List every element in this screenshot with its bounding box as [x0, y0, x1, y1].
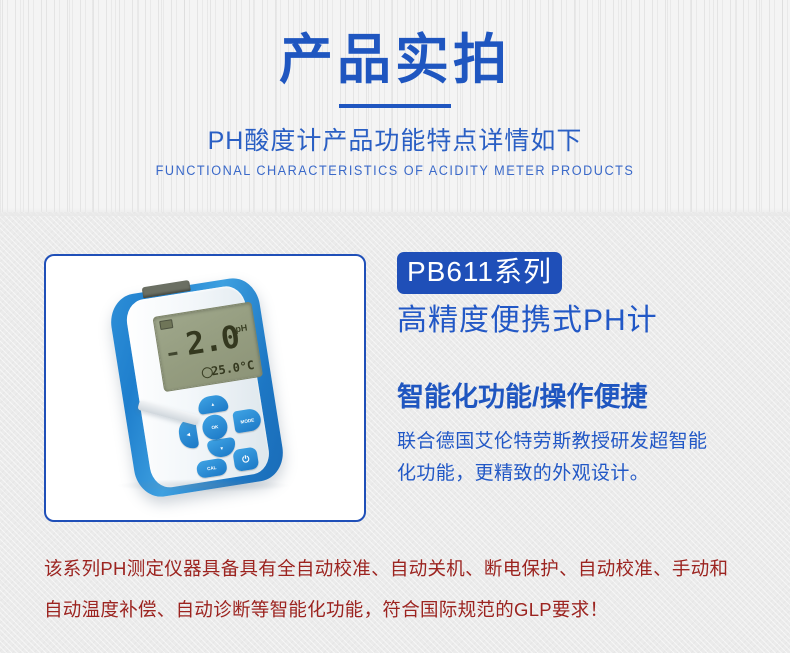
- device-drop-shadow: [116, 479, 291, 492]
- page-title: 产品实拍: [0, 30, 790, 90]
- minus-sign-icon: [168, 352, 177, 356]
- page-subtitle-cn: PH酸度计产品功能特点详情如下: [0, 126, 790, 156]
- feature-description: 联合德国艾伦特劳斯教授研发超智能 化功能，更精致的外观设计。: [397, 426, 757, 490]
- footer-line-1: 该系列PH测定仪器具备具有全自动校准、自动关机、断电保护、自动校准、手动和: [44, 548, 754, 589]
- lcd-reading-value: 2.0: [184, 322, 241, 361]
- feature-description-line-2: 化功能，更精致的外观设计。: [397, 458, 757, 490]
- footer-line-2: 自动温度补偿、自动诊断等智能化功能，符合国际规范的GLP要求！: [44, 589, 754, 630]
- product-image-card: 2.0 pH 25.0°C ▲ ◀ MODE ▼ OK CAL ⏻: [44, 254, 366, 522]
- lcd-temperature-value: 25.0°C: [210, 359, 255, 379]
- background-seam: [0, 208, 790, 216]
- mode-button: MODE: [232, 408, 262, 434]
- footer-paragraph: 该系列PH测定仪器具备具有全自动校准、自动关机、断电保护、自动校准、手动和 自动…: [44, 548, 754, 630]
- page-header: 产品实拍 PH酸度计产品功能特点详情如下 FUNCTIONAL CHARACTE…: [0, 0, 790, 179]
- feature-description-line-1: 联合德国艾伦特劳斯教授研发超智能: [397, 426, 757, 458]
- ph-meter-device: 2.0 pH 25.0°C ▲ ◀ MODE ▼ OK CAL ⏻: [107, 275, 287, 501]
- arrow-up-icon: ▲: [197, 393, 229, 414]
- product-info-column: PB611系列 高精度便携式PH计 智能化功能/操作便捷 联合德国艾伦特劳斯教授…: [397, 252, 757, 490]
- title-underline: [339, 104, 451, 108]
- feature-heading: 智能化功能/操作便捷: [397, 381, 757, 414]
- power-icon: ⏻: [232, 447, 259, 472]
- lcd-unit-label: pH: [235, 322, 248, 334]
- cal-button: CAL: [196, 457, 228, 478]
- battery-icon: [159, 319, 173, 330]
- model-badge: PB611系列: [397, 252, 562, 294]
- page-subtitle-en: FUNCTIONAL CHARACTERISTICS OF ACIDITY ME…: [24, 163, 767, 179]
- model-title: 高精度便携式PH计: [397, 303, 757, 339]
- product-showcase-page: 产品实拍 PH酸度计产品功能特点详情如下 FUNCTIONAL CHARACTE…: [0, 0, 790, 653]
- device-lcd-screen: 2.0 pH 25.0°C: [152, 301, 263, 392]
- device-keypad: ▲ ◀ MODE ▼ OK CAL ⏻: [170, 388, 275, 489]
- product-photo: 2.0 pH 25.0°C ▲ ◀ MODE ▼ OK CAL ⏻: [80, 273, 330, 503]
